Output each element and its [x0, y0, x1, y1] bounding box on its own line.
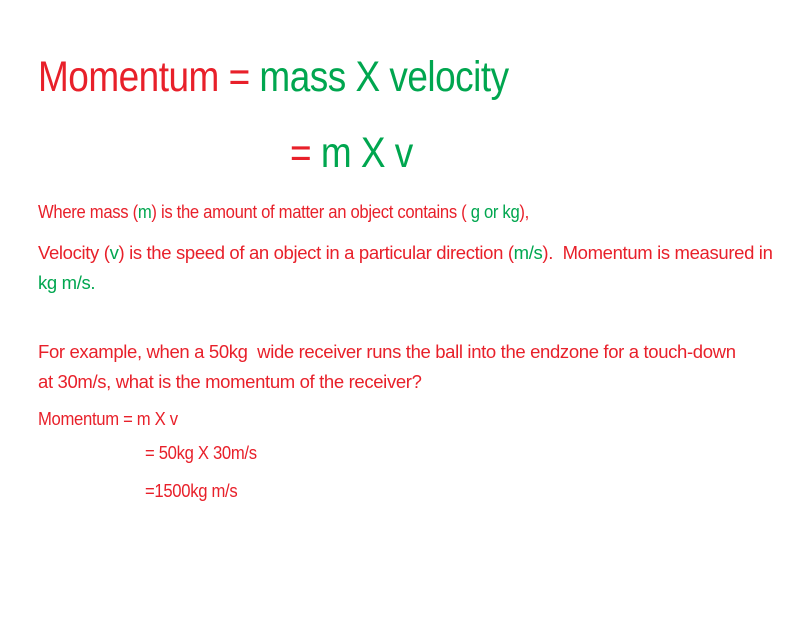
slide-canvas: Momentum = mass X velocity = m X v Where… — [0, 0, 800, 618]
example-question-paragraph: For example, when a 50kg wide receiver r… — [38, 337, 744, 397]
calculation-line-2: = 50kg X 30m/s — [145, 440, 257, 466]
title-expression-m-x-v: m X v — [321, 129, 413, 177]
velocity-def-text-3: ). Momentum is measured in — [542, 242, 777, 263]
velocity-def-units: m/s — [514, 242, 543, 263]
title-equals-sign-2: = — [290, 129, 321, 177]
mass-def-symbol-m: m — [138, 201, 152, 222]
title-equals-sign-1: = — [229, 53, 260, 101]
title-term-momentum: Momentum — [38, 53, 229, 101]
mass-def-text-1: Where mass — [38, 201, 133, 222]
calculation-line-3: =1500kg m/s — [145, 478, 237, 504]
mass-def-close-paren: ), — [519, 201, 529, 222]
momentum-units: kg m/s. — [38, 272, 95, 293]
velocity-def-text-1: Velocity — [38, 242, 104, 263]
velocity-def-text-2: ) is the speed of an object in a particu… — [118, 242, 513, 263]
velocity-definition-paragraph: Velocity (v) is the speed of an object i… — [38, 238, 778, 298]
mass-definition-line: Where mass (m) is the amount of matter a… — [38, 199, 529, 225]
calculation-line-1: Momentum = m X v — [38, 406, 178, 432]
mass-def-text-2: ) is the amount of matter an object cont… — [151, 201, 470, 222]
title-line-1: Momentum = mass X velocity — [38, 52, 509, 102]
example-question-text: For example, when a 50kg wide receiver r… — [38, 341, 740, 392]
title-line-2: = m X v — [290, 128, 413, 178]
mass-def-units: g or kg — [471, 201, 520, 222]
title-expression-mass-velocity: mass X velocity — [259, 53, 508, 101]
